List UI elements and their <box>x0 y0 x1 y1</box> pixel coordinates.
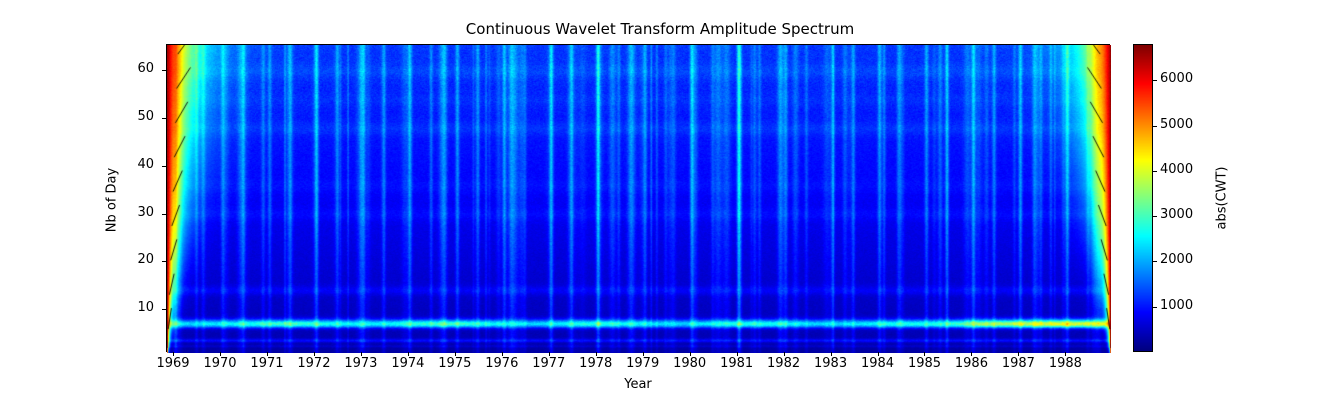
x-tick-label: 1977 <box>524 356 574 371</box>
colorbar-label: abs(CWT) <box>1215 166 1230 229</box>
y-tick-label: 10 <box>108 300 154 315</box>
x-tick-label: 1979 <box>618 356 668 371</box>
y-tick-mark <box>162 214 166 215</box>
x-tick-label: 1975 <box>430 356 480 371</box>
scalogram-axes[interactable] <box>166 44 1110 352</box>
y-tick-label: 60 <box>108 61 154 76</box>
colorbar-tick-label: 5000 <box>1160 117 1193 132</box>
colorbar-tick-mark <box>1153 216 1157 217</box>
y-tick-mark <box>162 166 166 167</box>
colorbar-tick-label: 4000 <box>1160 162 1193 177</box>
x-tick-label: 1981 <box>712 356 762 371</box>
x-tick-label: 1978 <box>571 356 621 371</box>
y-axis-label: Nb of Day <box>105 168 120 232</box>
x-tick-label: 1971 <box>242 356 292 371</box>
y-tick-mark <box>162 309 166 310</box>
x-tick-label: 1973 <box>336 356 386 371</box>
colorbar[interactable] <box>1133 44 1153 352</box>
x-tick-label: 1970 <box>195 356 245 371</box>
colorbar-tick-mark <box>1153 126 1157 127</box>
x-tick-label: 1972 <box>289 356 339 371</box>
x-tick-label: 1986 <box>946 356 996 371</box>
x-tick-label: 1988 <box>1040 356 1090 371</box>
colorbar-gradient <box>1134 45 1152 351</box>
x-tick-label: 1987 <box>993 356 1043 371</box>
colorbar-tick-mark <box>1153 307 1157 308</box>
x-tick-label: 1969 <box>148 356 198 371</box>
x-tick-label: 1984 <box>853 356 903 371</box>
x-tick-label: 1976 <box>477 356 527 371</box>
y-tick-mark <box>162 70 166 71</box>
scalogram-heatmap[interactable] <box>167 45 1111 353</box>
y-tick-label: 40 <box>108 157 154 172</box>
colorbar-tick-label: 1000 <box>1160 298 1193 313</box>
x-tick-label: 1983 <box>806 356 856 371</box>
x-tick-label: 1974 <box>383 356 433 371</box>
y-tick-label: 50 <box>108 109 154 124</box>
colorbar-tick-mark <box>1153 261 1157 262</box>
x-tick-label: 1985 <box>899 356 949 371</box>
colorbar-tick-label: 3000 <box>1160 207 1193 222</box>
x-axis-label: Year <box>166 377 1110 392</box>
y-tick-mark <box>162 118 166 119</box>
y-tick-mark <box>162 261 166 262</box>
colorbar-tick-mark <box>1153 80 1157 81</box>
x-tick-label: 1980 <box>665 356 715 371</box>
x-tick-label: 1982 <box>759 356 809 371</box>
chart-title: Continuous Wavelet Transform Amplitude S… <box>0 20 1320 38</box>
y-tick-label: 30 <box>108 205 154 220</box>
figure-canvas: Continuous Wavelet Transform Amplitude S… <box>0 0 1320 400</box>
colorbar-tick-label: 6000 <box>1160 71 1193 86</box>
y-tick-label: 20 <box>108 252 154 267</box>
colorbar-tick-label: 2000 <box>1160 252 1193 267</box>
colorbar-tick-mark <box>1153 171 1157 172</box>
